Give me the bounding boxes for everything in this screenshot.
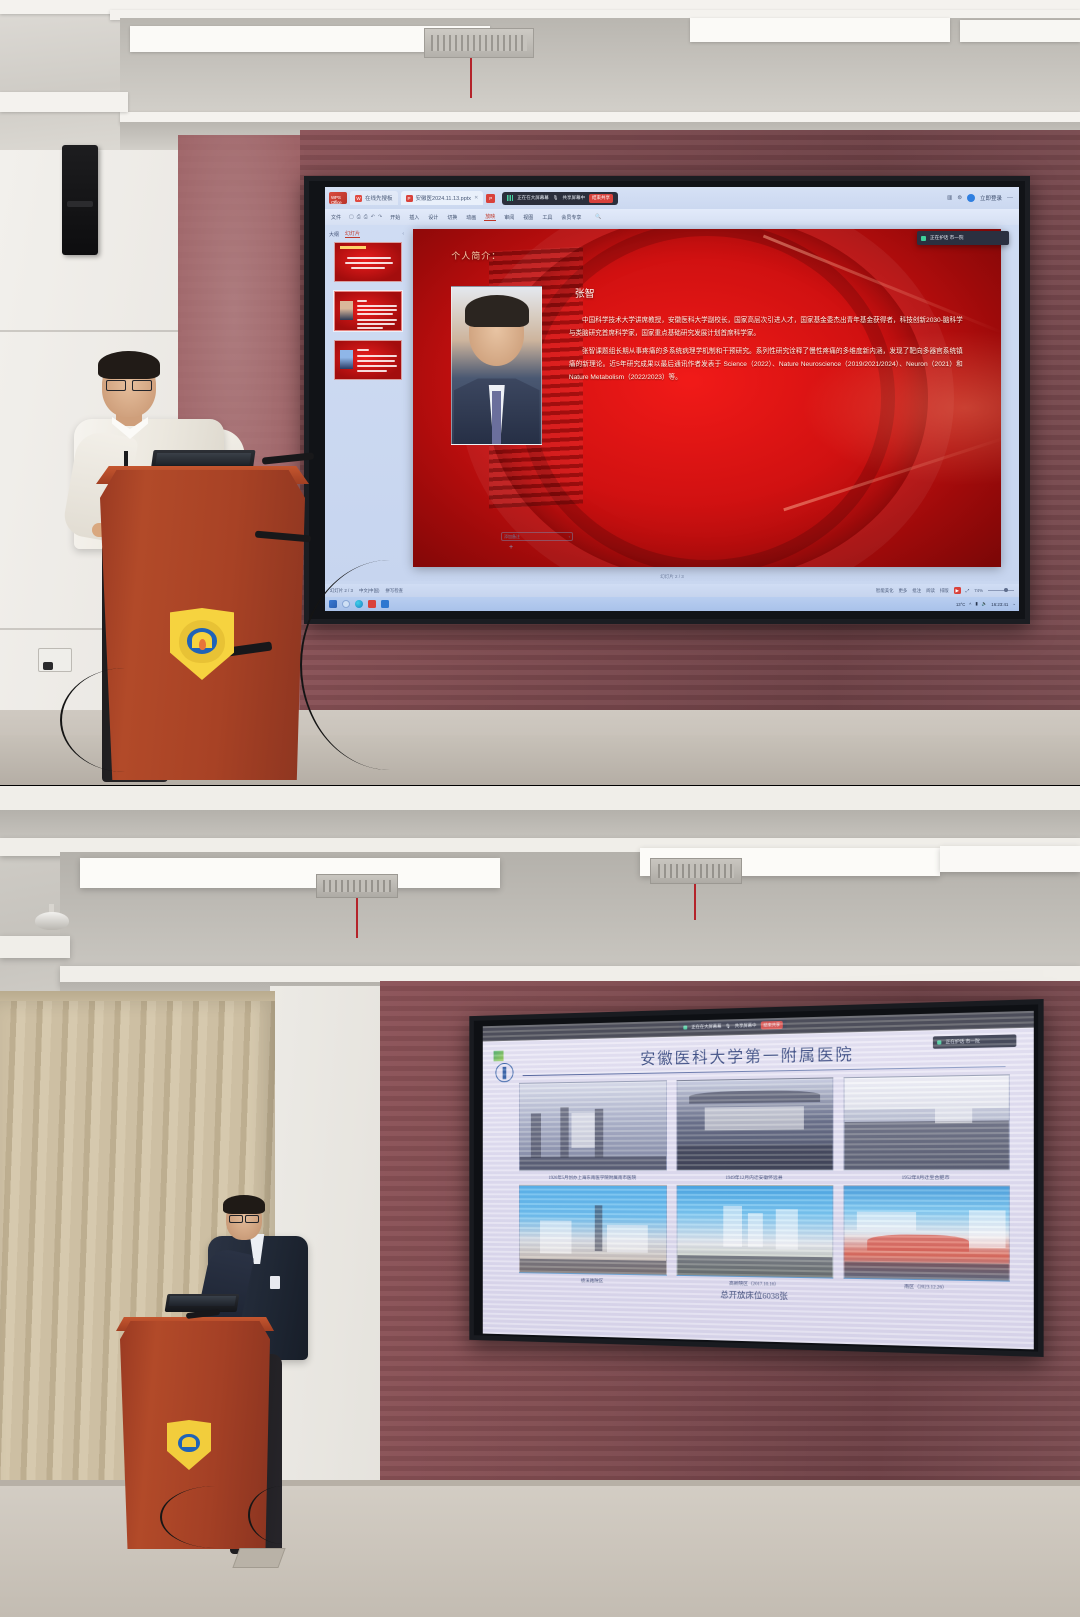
stop-share-button[interactable]: 结束共享 (589, 194, 613, 203)
login-label[interactable]: 立即登录 (980, 194, 1002, 202)
print-icon[interactable]: ⎙ (364, 214, 368, 220)
more-button[interactable]: 更多 (899, 588, 908, 594)
tab-design[interactable]: 设计 (427, 214, 439, 221)
taskbar-tray: 13°C ^ ▮ 🔈 16:23:41 ◔ (956, 601, 1015, 607)
slide-canvas[interactable]: 个人简介： 张智 中国科学技术大学讲席教授，安徽医科大学副校长，国家高层次引进人… (413, 229, 1001, 567)
slide-counter-hint: 幻灯片 2 / 3 (660, 574, 684, 580)
tab-review[interactable]: 审阅 (503, 214, 515, 221)
layout-button[interactable]: 排版 (940, 588, 949, 594)
add-slide-icon[interactable]: + (509, 544, 513, 551)
power-socket (38, 648, 72, 672)
ceiling-vent (424, 28, 534, 58)
eyeglasses (106, 380, 152, 389)
wall-speaker (62, 145, 98, 255)
search-icon[interactable]: 🔍 (595, 214, 601, 220)
bio-paragraph-1: 中国科学技术大学讲席教授，安徽医科大学副校长，国家高层次引进人才，国家基金委杰出… (569, 314, 963, 340)
tab-animation[interactable]: 动画 (465, 214, 477, 221)
zoom-level[interactable]: 74% (974, 588, 983, 593)
tab-cloud-doc[interactable]: W 在线先搜板 (350, 191, 398, 205)
tab-start[interactable]: 开始 (389, 214, 401, 221)
tab-view[interactable]: 视图 (522, 214, 534, 221)
meeting-toast-label: 正在护话 市一院 (930, 235, 963, 241)
wps-app-name: WPS Office (331, 195, 347, 205)
new-icon[interactable]: ▢ (349, 214, 354, 220)
tab-member[interactable]: 会员专享 (560, 214, 582, 221)
titlebar-right: ▥ ⊜ 立即登录 — (947, 194, 1015, 202)
meeting-toast[interactable]: 正在护话 市一院 (917, 231, 1009, 245)
screenshot-root: WPS Office W 在线先搜板 P 安徽医2024.11.13.pptx … (0, 0, 1080, 1617)
slide-thumbnail-1[interactable] (334, 242, 402, 282)
ceiling-vent (316, 874, 398, 898)
share-label: 共享屏幕中 (562, 195, 585, 201)
hospital-crest-top (170, 608, 234, 680)
bio-paragraph-2: 张智课题组长期从事疼痛的多系统病理学机制和干预研究。系列性研究诠释了慢性疼痛的多… (569, 345, 963, 385)
tab-insert[interactable]: 插入 (408, 214, 420, 221)
redo-icon[interactable]: ↷ (378, 214, 382, 220)
save-icon[interactable]: ⎙ (357, 214, 361, 220)
meeting-label: 正在在大屏幕幕 (517, 195, 549, 201)
signal-icon (507, 195, 513, 201)
photo-bottom-lecture-hall: 正在在大屏幕幕 🎙 共享屏幕中 结束共享 正在护话 市一院 安徽医科大学第一附属… (0, 786, 1080, 1617)
cloud-icon: W (355, 195, 362, 202)
network-icon[interactable]: ▮ (975, 601, 977, 607)
person-name: 张智 (575, 285, 595, 300)
slide-thumbnail-3[interactable] (334, 340, 402, 380)
globe-icon[interactable]: ⊜ (957, 195, 962, 201)
tab-tools[interactable]: 工具 (541, 214, 553, 221)
tab-presentation[interactable]: P 安徽医2024.11.13.pptx ✕ (401, 191, 484, 205)
comment-button[interactable]: 批注 (912, 588, 921, 594)
dome-camera-icon (35, 904, 69, 930)
tab-label: 安徽医2024.11.13.pptx (416, 194, 472, 202)
clock-label[interactable]: 16:23:41 (991, 602, 1008, 607)
volume-icon[interactable]: 🔈 (982, 601, 987, 607)
photo-top-lecture-hall: WPS Office W 在线先搜板 P 安徽医2024.11.13.pptx … (0, 0, 1080, 785)
projection-screen-frame: WPS Office W 在线先搜板 P 安徽医2024.11.13.pptx … (304, 176, 1030, 624)
thumbnail-panel: 大纲 幻灯片 ‹ (329, 227, 407, 579)
status-bar-right: 智能美化 更多 批注 阅读 排版 ▶ ⤢ 74% (876, 587, 1014, 594)
slide-stage: 个人简介： 张智 中国科学技术大学讲席教授，安徽医科大学副校长，国家高层次引进人… (413, 229, 1001, 567)
undo-icon[interactable]: ↶ (371, 214, 375, 220)
beautify-button[interactable]: 智能美化 (876, 588, 894, 594)
fullscreen-icon[interactable]: ⤢ (966, 588, 970, 593)
mic-icon: 🎙 (553, 195, 559, 201)
thumbnail-panel-tabs: 大纲 幻灯片 ‹ (329, 227, 407, 242)
reading-button[interactable]: 阅读 (926, 588, 935, 594)
notification-icon[interactable]: ◔ (1012, 602, 1015, 607)
projection-screen-bottom: 正在在大屏幕幕 🎙 共享屏幕中 结束共享 正在护话 市一院 安徽医科大学第一附属… (483, 1011, 1034, 1350)
portrait-photo (451, 286, 542, 445)
tab-slideshow[interactable]: 放映 (484, 213, 496, 221)
close-icon[interactable]: ✕ (474, 195, 478, 201)
tab-slides[interactable]: 幻灯片 (345, 230, 360, 238)
wps-office-window: WPS Office W 在线先搜板 P 安徽医2024.11.13.pptx … (325, 187, 1019, 611)
temperature-label: 13°C (956, 602, 965, 607)
projection-screen-top: WPS Office W 在线先搜板 P 安徽医2024.11.13.pptx … (325, 187, 1019, 611)
chevron-left-icon[interactable]: ‹ (402, 231, 404, 237)
ppt-icon: P (406, 195, 413, 202)
zoom-slider[interactable] (988, 590, 1014, 591)
name-badge (270, 1276, 280, 1289)
wps-logo-icon: WPS Office (329, 192, 347, 204)
notes-field[interactable]: 添加备注 ‹ (501, 532, 573, 541)
screen-scanlines (483, 1011, 1034, 1350)
projection-screen-frame-bottom: 正在在大屏幕幕 🎙 共享屏幕中 结束共享 正在护话 市一院 安徽医科大学第一附属… (469, 999, 1043, 1357)
chevron-left-icon[interactable]: ‹ (569, 534, 570, 539)
tab-transition[interactable]: 切换 (446, 214, 458, 221)
slide-section-label: 个人简介： (451, 249, 501, 262)
ceiling-vent (650, 858, 742, 884)
hospital-crest-bottom (167, 1420, 211, 1470)
tab-outline[interactable]: 大纲 (329, 231, 339, 238)
ribbon-bar: 文件 ▢ ⎙ ⎙ ↶ ↷ 开始 插入 设计 切换 动画 放映 (325, 209, 1019, 225)
laptop-on-podium-bottom (165, 1294, 240, 1312)
layout-icon[interactable]: ▥ (947, 195, 952, 201)
slide-thumbnail-2[interactable] (334, 291, 402, 331)
file-menu[interactable]: 文件 (330, 214, 342, 221)
floor-plate (232, 1548, 285, 1568)
notes-placeholder: 添加备注 (504, 534, 520, 540)
chevron-up-icon[interactable]: ^ (969, 602, 971, 607)
live-share-badge[interactable]: 正在在大屏幕幕 🎙 共享屏幕中 结束共享 (502, 192, 618, 205)
person-bio: 中国科学技术大学讲席教授，安徽医科大学副校长，国家高层次引进人才，国家基金委杰出… (569, 314, 963, 390)
tab-label: 在线先搜板 (365, 194, 393, 202)
minimize-button[interactable]: — (1007, 195, 1013, 201)
new-ppt-icon[interactable]: P (486, 194, 495, 203)
window-tabbar: WPS Office W 在线先搜板 P 安徽医2024.11.13.pptx … (325, 187, 1019, 209)
quick-access-icons: ▢ ⎙ ⎙ ↶ ↷ (349, 214, 382, 220)
present-button[interactable]: ▶ (954, 587, 961, 594)
eyeglasses (229, 1215, 259, 1221)
recording-dot-icon (921, 236, 926, 241)
avatar[interactable] (967, 194, 975, 202)
editor-body: 大纲 幻灯片 ‹ (325, 225, 1019, 581)
